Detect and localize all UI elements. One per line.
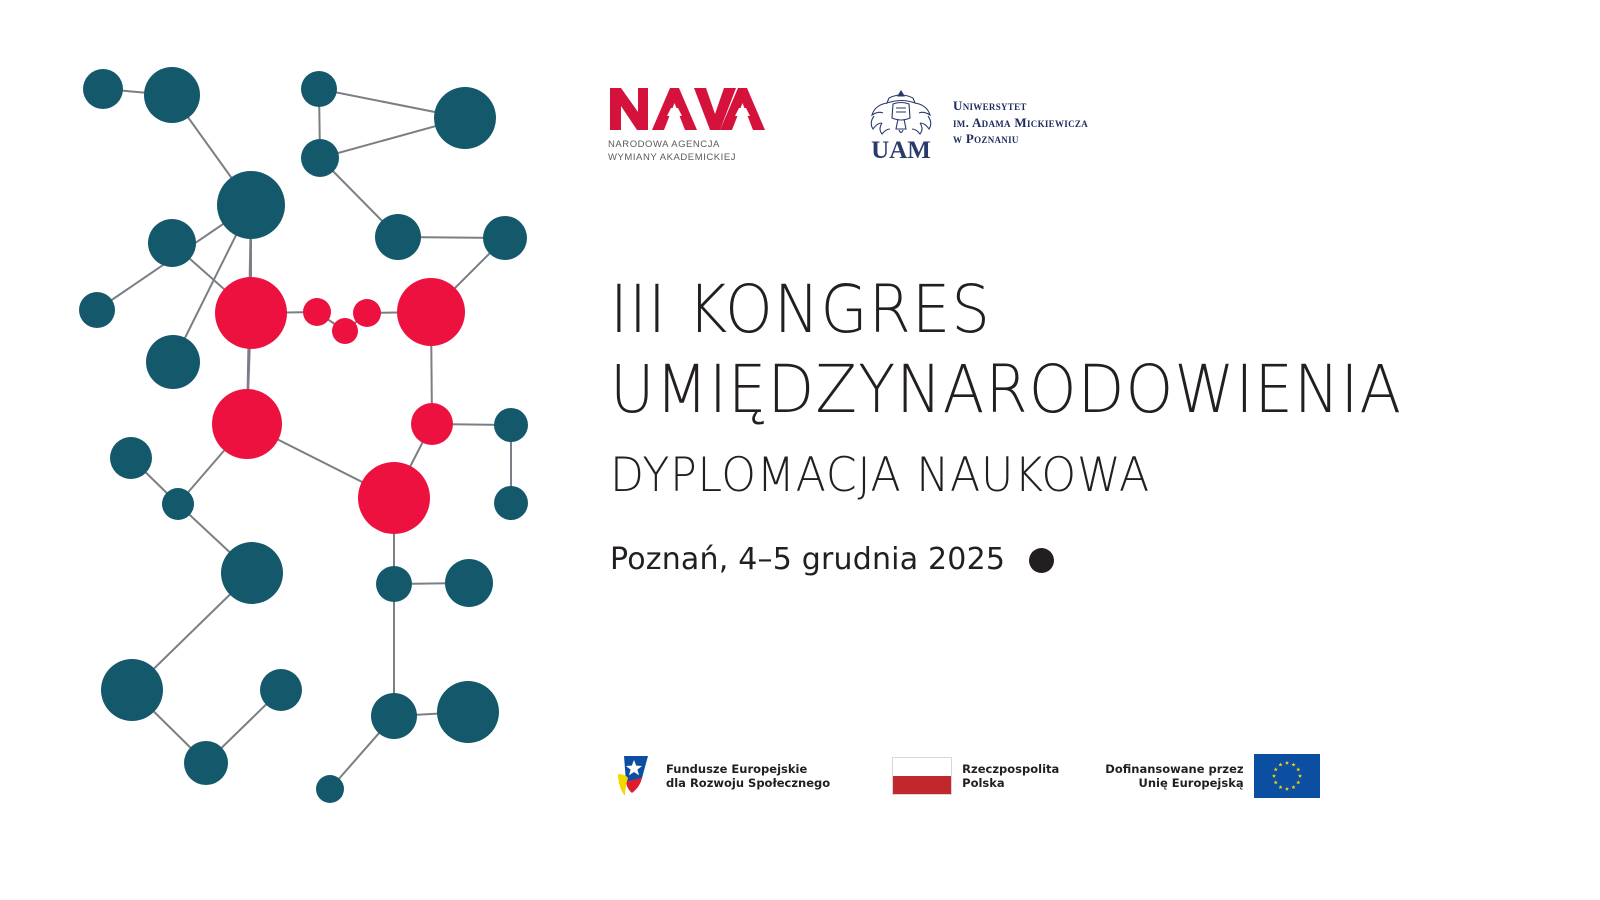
network-node <box>303 298 331 326</box>
network-node <box>101 659 163 721</box>
network-node <box>353 299 381 327</box>
network-node <box>437 681 499 743</box>
event-date: Poznań, 4–5 grudnia 2025 <box>610 542 1005 578</box>
network-node <box>316 775 344 803</box>
nawa-wordmark-icon <box>608 86 766 132</box>
network-node <box>358 462 430 534</box>
title-line-2: UMIĘDZYNARODOWIENIA <box>610 350 1493 430</box>
network-node <box>184 741 228 785</box>
network-node <box>397 278 465 346</box>
network-graphic <box>0 0 560 900</box>
funding-logo-row: Fundusze Europejskie dla Rozwoju Społecz… <box>612 752 1320 800</box>
network-node <box>148 219 196 267</box>
network-node <box>217 171 285 239</box>
network-node <box>146 335 200 389</box>
network-node <box>301 139 339 177</box>
network-node <box>212 389 282 459</box>
funding-label-rzeczpospolita-polska: Rzeczpospolita Polska <box>962 762 1059 791</box>
fundusze-europejskie-icon <box>612 752 656 800</box>
network-node <box>79 292 115 328</box>
event-date-row: Poznań, 4–5 grudnia 2025 <box>610 542 1570 578</box>
partner-logo-row: NARODOWA AGENCJA WYMIANY AKADEMICKIEJ <box>608 86 1088 164</box>
network-node <box>411 403 453 445</box>
funding-label-fundusze-europejskie: Fundusze Europejskie dla Rozwoju Społecz… <box>666 762 830 791</box>
network-node <box>221 542 283 604</box>
network-node <box>371 693 417 739</box>
network-node <box>162 488 194 520</box>
uam-name: Uniwersytet im. Adama Mickiewicza w Pozn… <box>953 98 1088 150</box>
funding-item-fundusze-europejskie[interactable]: Fundusze Europejskie dla Rozwoju Społecz… <box>612 752 830 800</box>
network-node <box>434 87 496 149</box>
event-subtitle: DYPLOMACJA NAUKOWA <box>610 448 1512 504</box>
uam-crest-icon: UAM <box>862 86 940 162</box>
bullet-dot-icon <box>1029 548 1054 573</box>
poland-flag-icon <box>892 757 952 795</box>
network-node <box>483 216 527 260</box>
european-union-flag-icon <box>1254 754 1320 798</box>
title-line-1: III KONGRES <box>610 270 1493 350</box>
network-node <box>301 71 337 107</box>
network-node <box>83 69 123 109</box>
funding-item-rzeczpospolita-polska[interactable]: Rzeczpospolita Polska <box>892 757 1059 795</box>
headline-block: III KONGRES UMIĘDZYNARODOWIENIA DYPLOMAC… <box>610 270 1570 578</box>
funding-item-european-union[interactable]: Dofinansowane przez Unię Europejską <box>1105 754 1319 798</box>
network-nodes <box>79 67 528 803</box>
content-column: NARODOWA AGENCJA WYMIANY AKADEMICKIEJ <box>608 0 1600 900</box>
network-node <box>332 318 358 344</box>
nawa-subtitle: NARODOWA AGENCJA WYMIANY AKADEMICKIEJ <box>608 139 736 164</box>
network-node <box>110 437 152 479</box>
funding-label-european-union: Dofinansowane przez Unię Europejską <box>1105 762 1243 791</box>
network-node <box>260 669 302 711</box>
network-svg <box>0 0 560 900</box>
network-node <box>144 67 200 123</box>
network-node <box>375 214 421 260</box>
svg-text:UAM: UAM <box>871 137 931 162</box>
network-node <box>215 277 287 349</box>
network-node <box>376 566 412 602</box>
uam-logo[interactable]: UAM Uniwersytet im. Adama Mickiewicza w … <box>862 86 1088 162</box>
network-node <box>445 559 493 607</box>
network-node <box>494 408 528 442</box>
poster-root: NARODOWA AGENCJA WYMIANY AKADEMICKIEJ <box>0 0 1600 900</box>
nawa-logo[interactable]: NARODOWA AGENCJA WYMIANY AKADEMICKIEJ <box>608 86 766 164</box>
network-node <box>494 486 528 520</box>
